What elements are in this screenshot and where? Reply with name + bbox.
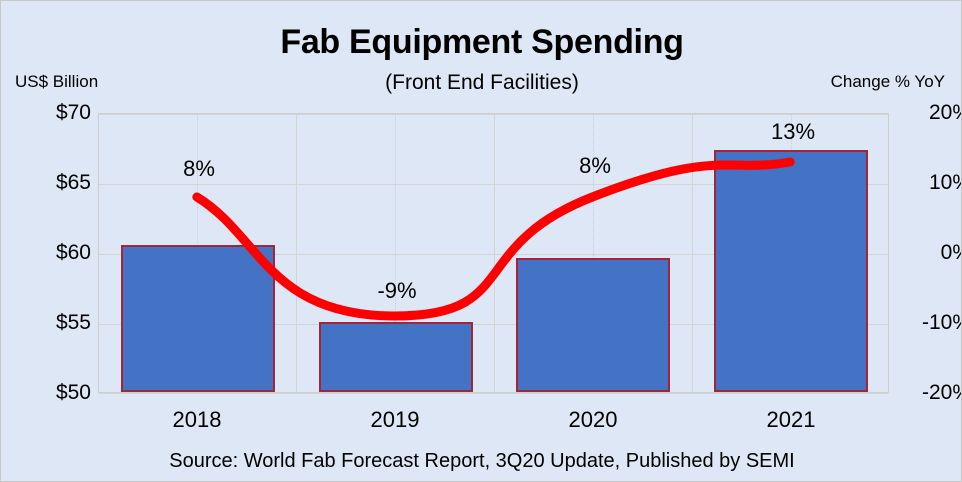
bar-2021 [714,150,868,392]
ytick-left: $65 [1,171,91,195]
ytick-left: $70 [1,101,91,125]
fab-equipment-spending-chart: Fab Equipment Spending (Front End Facili… [0,0,962,482]
ytick-left: $60 [1,241,91,265]
ytick-left: $55 [1,311,91,335]
plot-area [98,113,889,393]
bar-2019 [319,322,473,392]
ytick-right: -10% [897,311,962,335]
gridline-horizontal [99,393,888,394]
chart-title: Fab Equipment Spending [1,23,962,62]
data-label-2020: 8% [535,153,655,179]
ytick-right: 0% [897,241,962,265]
ytick-right: -20% [897,381,962,405]
data-label-2019: -9% [337,278,457,304]
source-note: Source: World Fab Forecast Report, 3Q20 … [1,450,962,473]
data-label-2018: 8% [139,156,259,182]
right-axis-ticks: 20% 10% 0% -10% -20% [897,1,962,482]
gridline-vertical [494,114,495,392]
ytick-right: 10% [897,171,962,195]
bar-2020 [516,258,670,392]
xtick-2021: 2021 [711,407,871,433]
bar-2018 [121,245,275,392]
data-label-2021: 13% [733,119,853,145]
gridline-vertical [296,114,297,392]
gridline-vertical [692,114,693,392]
xtick-2018: 2018 [117,407,277,433]
ytick-left: $50 [1,381,91,405]
xtick-2019: 2019 [315,407,475,433]
ytick-right: 20% [897,101,962,125]
chart-subtitle: (Front End Facilities) [1,71,962,95]
xtick-2020: 2020 [513,407,673,433]
left-axis-ticks: $70 $65 $60 $55 $50 [1,1,91,482]
